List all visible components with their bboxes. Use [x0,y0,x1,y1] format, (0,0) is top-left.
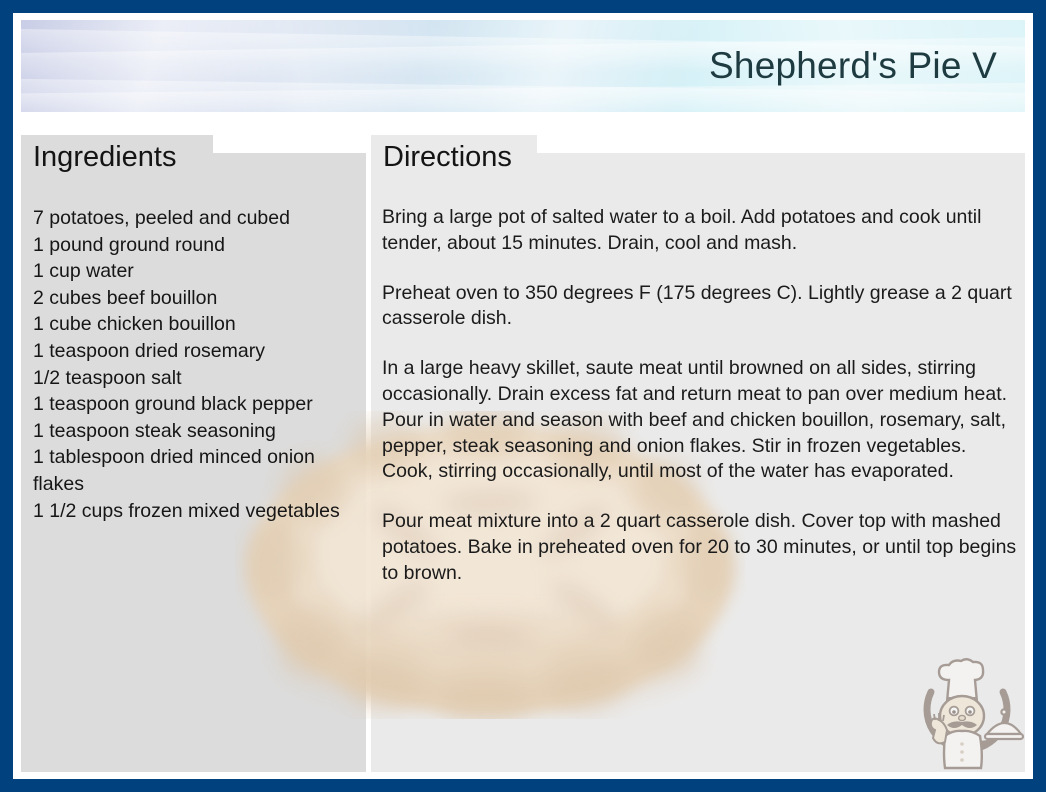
direction-step: Preheat oven to 350 degrees F (175 degre… [382,281,1022,333]
page-title: Shepherd's Pie V [709,45,997,87]
direction-step: Bring a large pot of salted water to a b… [382,205,1022,257]
ingredient-item: 1 teaspoon steak seasoning [33,418,363,445]
ingredient-item: 1 pound ground round [33,232,363,259]
direction-step: In a large heavy skillet, saute meat unt… [382,356,1022,485]
directions-heading-tab: Directions [371,135,537,179]
title-banner: Shepherd's Pie V [21,20,1025,112]
ingredients-list: 7 potatoes, peeled and cubed 1 pound gro… [33,205,363,524]
ingredient-item: 1 teaspoon ground black pepper [33,391,363,418]
ingredient-item: 1 1/2 cups frozen mixed vegetables [33,498,363,525]
ingredient-item: 1 tablespoon dried minced onion flakes [33,444,363,497]
ingredient-item: 1/2 teaspoon salt [33,365,363,392]
ingredient-item: 7 potatoes, peeled and cubed [33,205,363,232]
ingredient-item: 1 cup water [33,258,363,285]
chef-mascot-logo-icon [909,658,1025,774]
ingredient-item: 1 teaspoon dried rosemary [33,338,363,365]
directions-heading: Directions [383,143,512,172]
ingredients-heading-tab: Ingredients [21,135,213,179]
recipe-page: Shepherd's Pie V [13,13,1033,779]
ingredient-item: 1 cube chicken bouillon [33,311,363,338]
directions-body: Bring a large pot of salted water to a b… [382,205,1022,587]
recipe-card: Shepherd's Pie V [0,0,1046,792]
ingredient-item: 2 cubes beef bouillon [33,285,363,312]
ingredients-heading: Ingredients [33,143,177,172]
direction-step: Pour meat mixture into a 2 quart cassero… [382,509,1022,586]
